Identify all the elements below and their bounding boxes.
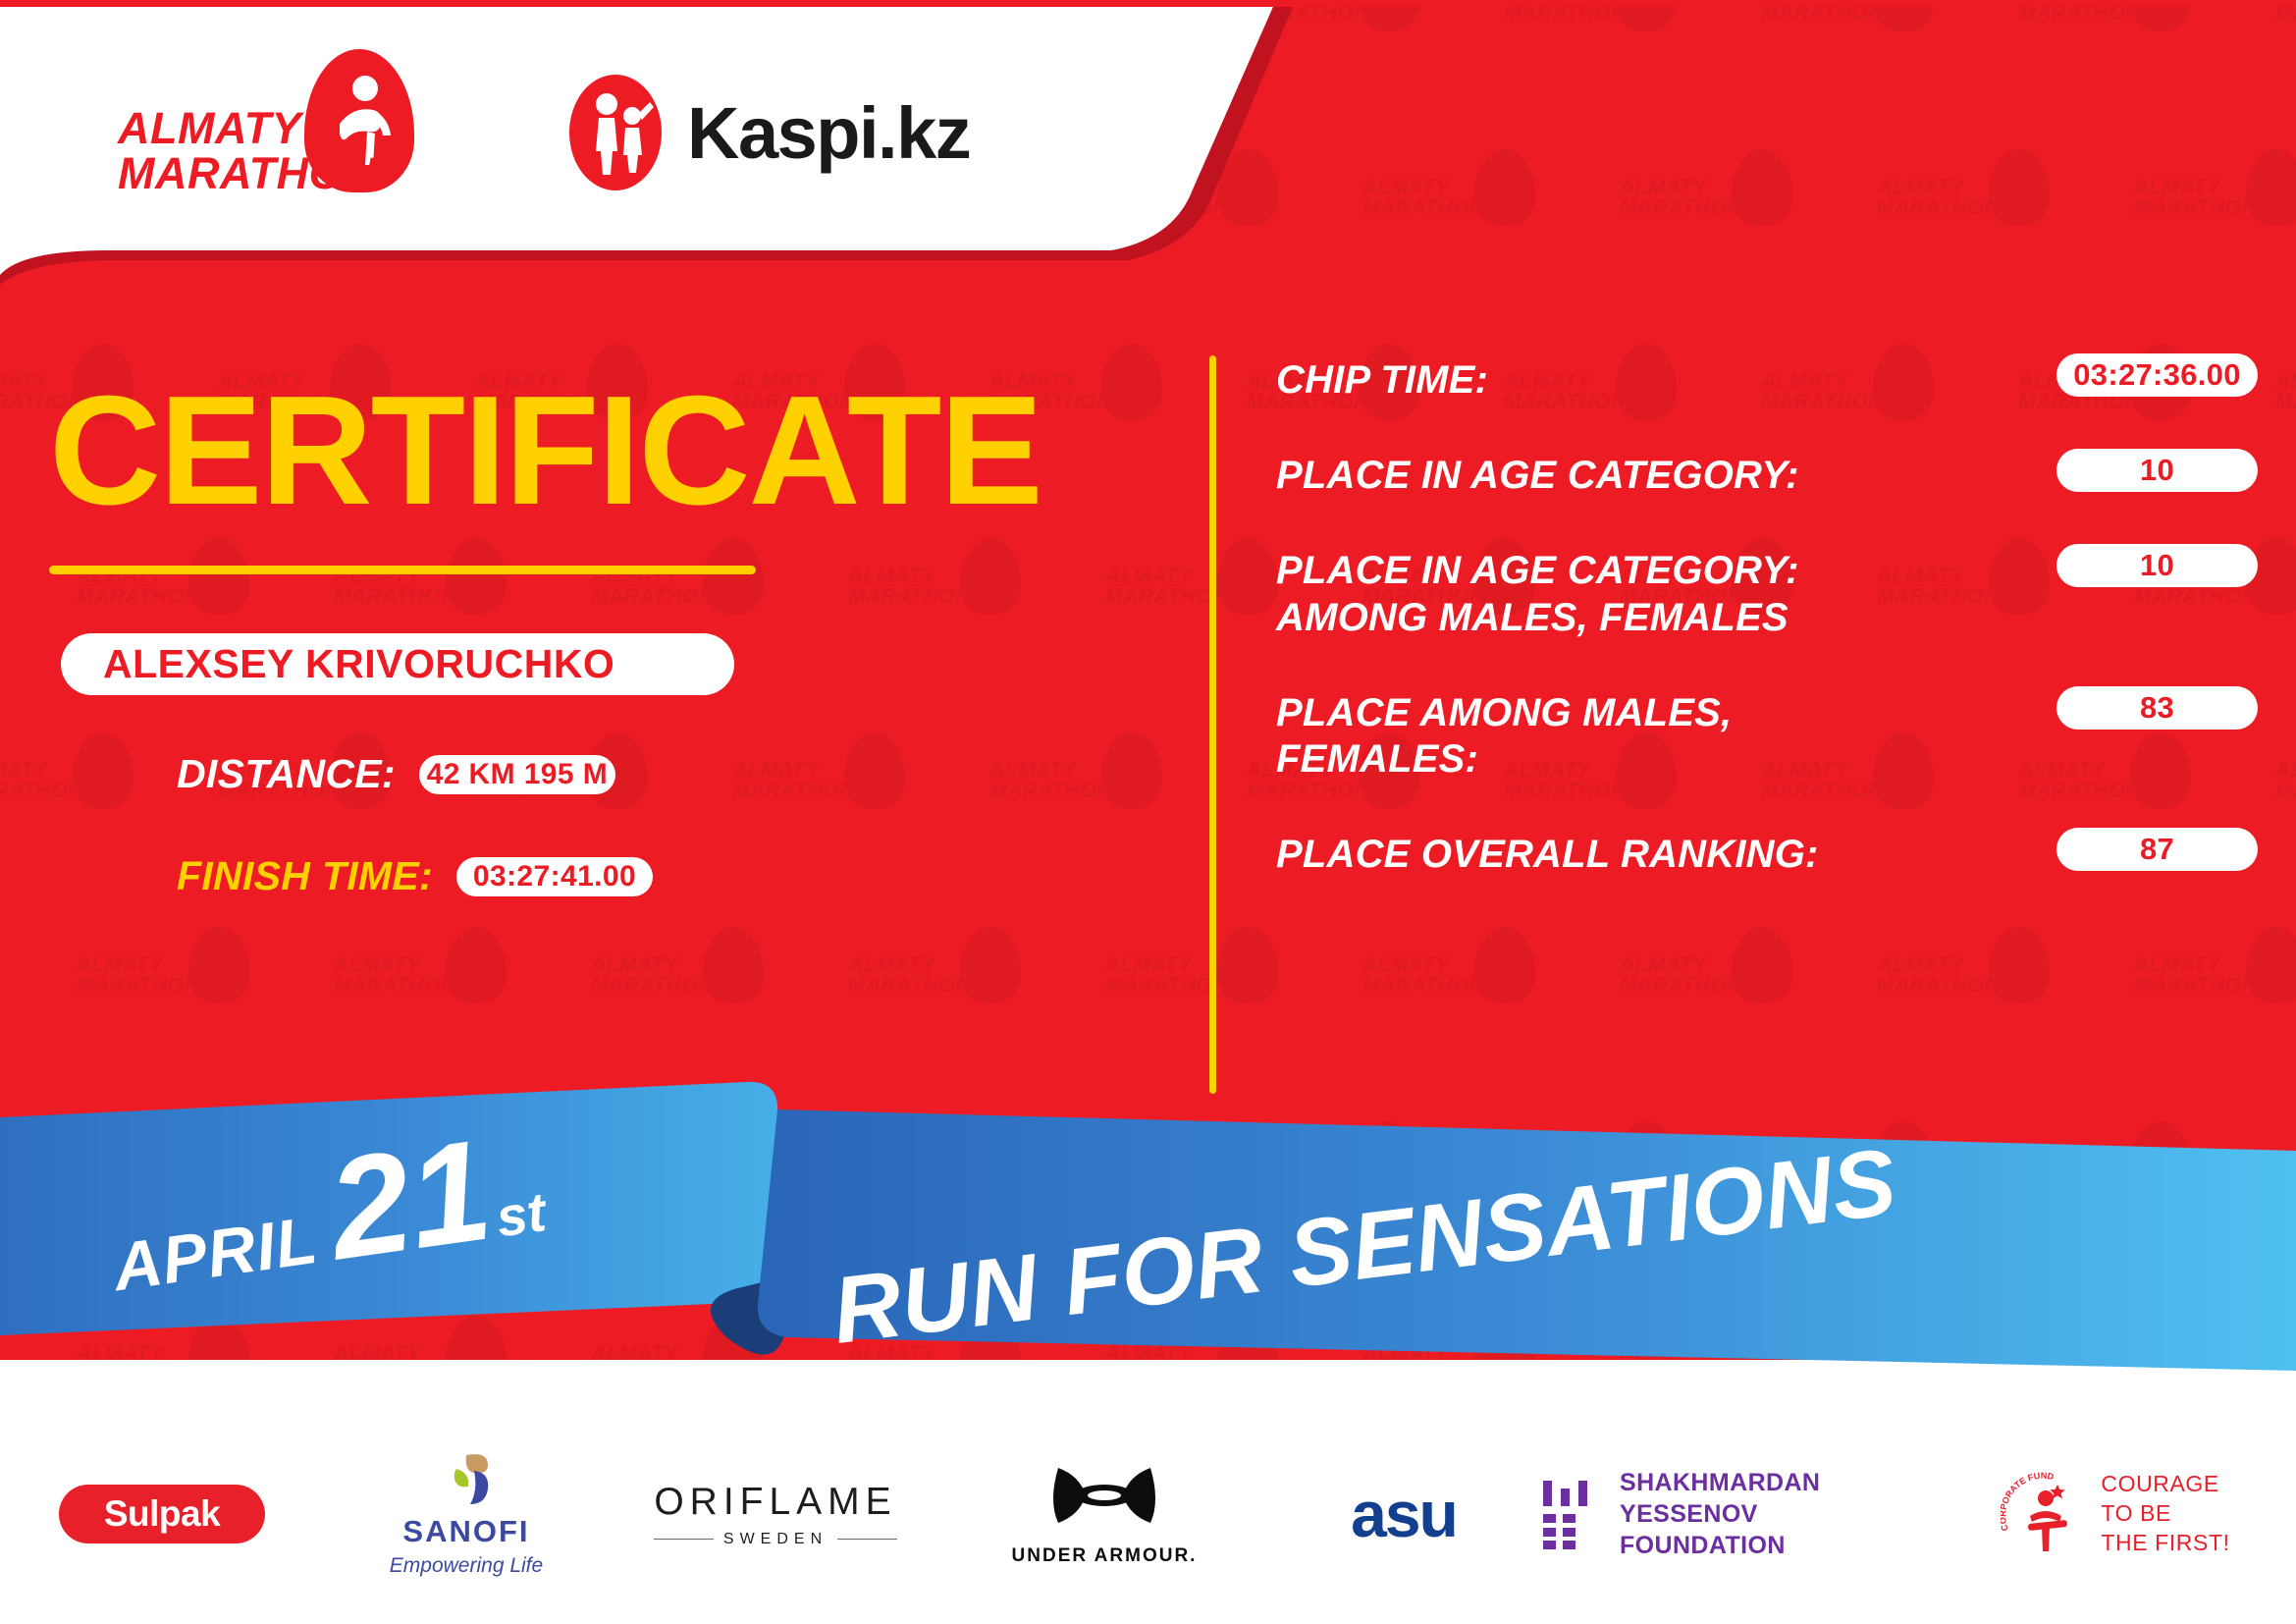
- athlete-name-field: ALEXSEY KRIVORUCHKO: [61, 633, 734, 695]
- sponsor-sanofi: SANOFI Empowering Life: [324, 1435, 609, 1593]
- yessenov-line1: SHAKHMARDAN YESSENOV: [1620, 1467, 1953, 1530]
- stat-row: PLACE IN AGE CATEGORY:AMONG MALES, FEMAL…: [1276, 544, 2258, 640]
- under-armour-logo: UNDER ARMOUR.: [1012, 1462, 1198, 1567]
- finish-time-label: FINISH TIME:: [177, 853, 433, 899]
- athlete-name: ALEXSEY KRIVORUCHKO: [103, 641, 614, 687]
- courage-runner-icon: CORPORATE FUND: [2001, 1469, 2091, 1559]
- courage-mark-icon: CORPORATE FUND: [2001, 1469, 2091, 1559]
- kaspi-wordmark: Kaspi.kz: [687, 91, 970, 175]
- results-stats-list: CHIP TIME:03:27:36.00PLACE IN AGE CATEGO…: [1276, 353, 2258, 923]
- courage-line2: TO BE: [2101, 1499, 2229, 1529]
- under-armour-wordmark: UNDER ARMOUR.: [1012, 1545, 1198, 1567]
- stat-value: 83: [2140, 690, 2174, 726]
- asu-wordmark: asu: [1351, 1477, 1457, 1551]
- finish-time-value: 03:27:41.00: [473, 860, 636, 893]
- finish-time-row: FINISH TIME: 03:27:41.00: [177, 853, 1158, 899]
- distance-row: DISTANCE: 42 KM 195 M: [177, 751, 1158, 797]
- yessenov-line2: FOUNDATION: [1620, 1530, 1953, 1561]
- yessenov-mark-icon: [1541, 1479, 1598, 1549]
- sponsor-asu: asu: [1266, 1435, 1541, 1593]
- courage-logo: CORPORATE FUND COURAGE TO BE THE FIRST!: [2001, 1469, 2229, 1559]
- stat-value-pill: 10: [2056, 544, 2258, 587]
- oriflame-rule-left: [654, 1539, 714, 1540]
- certificate-left-column: CERTIFICATE ALEXSEY KRIVORUCHKO DISTANCE…: [0, 295, 1158, 899]
- yessenov-logo: SHAKHMARDAN YESSENOV FOUNDATION: [1541, 1467, 1953, 1561]
- stat-value: 03:27:36.00: [2073, 357, 2241, 393]
- sponsor-courage: CORPORATE FUND COURAGE TO BE THE FIRST!: [1953, 1435, 2277, 1593]
- sponsor-oriflame: ORIFLAME SWEDEN: [609, 1435, 942, 1593]
- almaty-marathon-logo: ALMATY MARATHON: [118, 47, 412, 219]
- marathon-wordmark-line2: MARATHON: [118, 151, 344, 196]
- column-divider: [1209, 355, 1216, 1094]
- stat-value-pill: 03:27:36.00: [2056, 353, 2258, 397]
- finish-time-value-pill: 03:27:41.00: [456, 857, 653, 896]
- sponsor-under-armour: UNDER ARMOUR.: [942, 1435, 1266, 1593]
- under-armour-mark-icon: [1046, 1462, 1162, 1539]
- sanofi-logo: SANOFI Empowering Life: [390, 1451, 543, 1578]
- courage-line3: THE FIRST!: [2101, 1529, 2229, 1558]
- yessenov-wordmark: SHAKHMARDAN YESSENOV FOUNDATION: [1620, 1467, 1953, 1561]
- stat-value-pill: 83: [2056, 686, 2258, 730]
- oriflame-sub: SWEDEN: [654, 1531, 896, 1548]
- oriflame-wordmark: ORIFLAME: [654, 1481, 896, 1524]
- stat-label: PLACE AMONG MALES,FEMALES:: [1276, 686, 2039, 783]
- sponsor-yessenov: SHAKHMARDAN YESSENOV FOUNDATION: [1541, 1435, 1953, 1593]
- courage-wordmark: COURAGE TO BE THE FIRST!: [2101, 1470, 2229, 1558]
- oriflame-rule-right: [837, 1539, 897, 1540]
- stat-label: CHIP TIME:: [1276, 353, 2039, 404]
- stat-value-pill: 87: [2056, 828, 2258, 871]
- oriflame-logo: ORIFLAME SWEDEN: [654, 1481, 896, 1548]
- event-day-suffix: st: [492, 1179, 549, 1249]
- stat-label: PLACE IN AGE CATEGORY:: [1276, 449, 2039, 499]
- distance-value-pill: 42 KM 195 M: [419, 755, 615, 794]
- distance-value: 42 KM 195 M: [427, 758, 608, 791]
- stat-value: 87: [2140, 832, 2174, 867]
- sanofi-tagline: Empowering Life: [390, 1554, 543, 1578]
- sponsor-sulpak: Sulpak: [0, 1435, 324, 1593]
- stat-row: PLACE IN AGE CATEGORY:10: [1276, 449, 2258, 499]
- event-day: 21: [322, 1124, 498, 1274]
- stat-value-pill: 10: [2056, 449, 2258, 492]
- stat-row: PLACE OVERALL RANKING:87: [1276, 828, 2258, 878]
- courage-line1: COURAGE: [2101, 1470, 2229, 1499]
- stat-label: PLACE IN AGE CATEGORY:AMONG MALES, FEMAL…: [1276, 544, 2039, 640]
- yessenov-bars-icon: [1541, 1479, 1598, 1549]
- sanofi-glyph-icon: [431, 1451, 502, 1510]
- asu-logo: asu: [1351, 1477, 1457, 1551]
- stat-value: 10: [2140, 453, 2174, 488]
- certificate-canvas: ALMATYMARATHONALMATYMARATHONALMATYMARATH…: [0, 0, 2296, 1624]
- header-logos: ALMATY MARATHON Kaspi.kz: [0, 0, 1178, 265]
- sulpak-logo: Sulpak: [59, 1485, 265, 1543]
- stat-row: PLACE AMONG MALES,FEMALES:83: [1276, 686, 2258, 783]
- kaspi-mark-icon: [569, 75, 662, 190]
- stat-value: 10: [2140, 548, 2174, 583]
- marathon-wordmark-line1: ALMATY: [118, 106, 344, 151]
- sulpak-wordmark: Sulpak: [104, 1493, 220, 1535]
- title-underline: [49, 566, 756, 574]
- marathon-wordmark: ALMATY MARATHON: [118, 106, 344, 197]
- kaspi-logo: Kaspi.kz: [569, 75, 970, 190]
- sanofi-wordmark: SANOFI: [402, 1514, 529, 1549]
- stat-row: CHIP TIME:03:27:36.00: [1276, 353, 2258, 404]
- page-title: CERTIFICATE: [49, 373, 1158, 528]
- sanofi-mark-icon: [431, 1451, 502, 1510]
- sponsor-bar: Sulpak SANOFI Empowering Life ORIFLAME: [0, 1404, 2296, 1624]
- distance-label: DISTANCE:: [177, 751, 396, 797]
- stat-label: PLACE OVERALL RANKING:: [1276, 828, 2039, 878]
- oriflame-tagline: SWEDEN: [723, 1531, 828, 1548]
- kaspi-figures-icon: [569, 75, 662, 190]
